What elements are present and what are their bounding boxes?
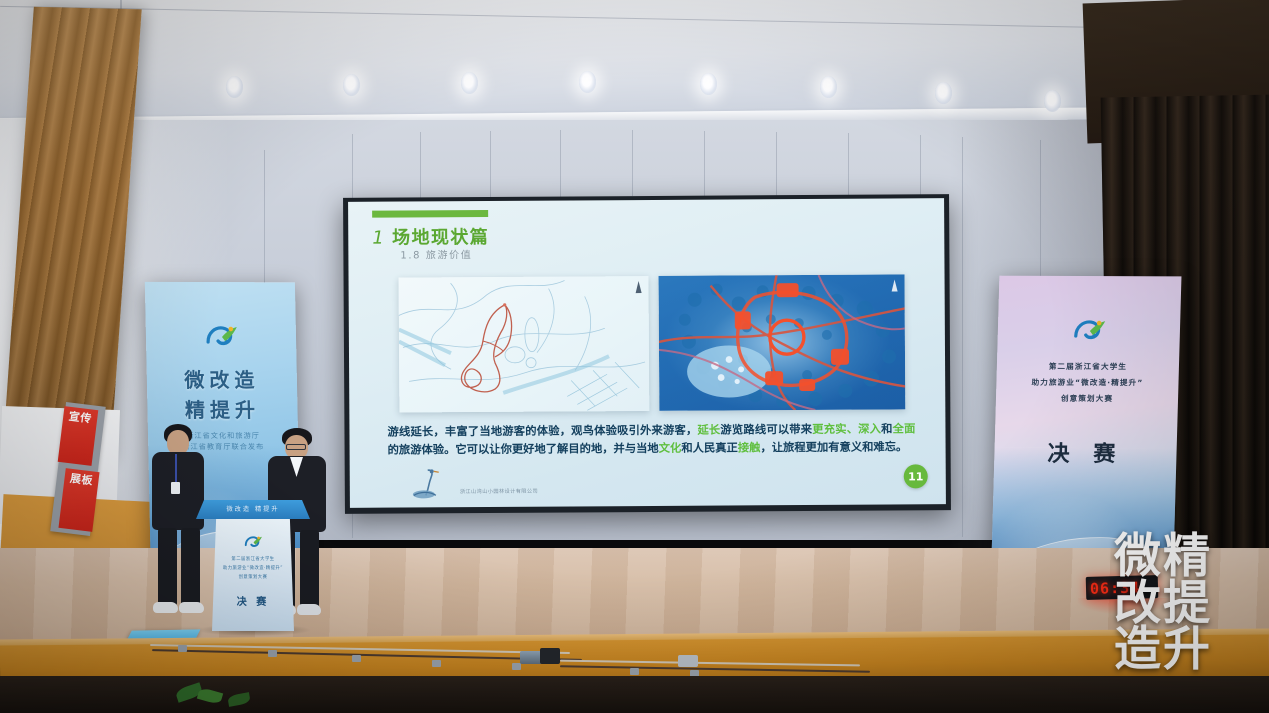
projected-slide: 1场地现状篇 1.8 旅游价值 bbox=[348, 198, 946, 508]
presenter-shoe bbox=[153, 602, 178, 613]
body-seg-1: 游线延长，丰富了当地游客的体验，观鸟体验吸引外来游客， bbox=[387, 424, 697, 439]
body-seg-2: 游览路线可以带来 bbox=[720, 423, 812, 437]
watermark-char: 造 bbox=[1114, 627, 1161, 674]
banner-right-line2: 助力旅游业“微改造·精提升” bbox=[996, 378, 1178, 389]
wall-panel-seam bbox=[490, 131, 491, 199]
slide-footer-credit: 浙江山湾山小园林设计有限公司 bbox=[460, 488, 538, 495]
banner-left-line2: 精提升 bbox=[147, 394, 298, 423]
slide-section-number: 1 bbox=[372, 228, 385, 249]
stage-floor-box bbox=[678, 655, 698, 667]
broadcast-watermark: 微 改 造 精 提 升 bbox=[1114, 534, 1264, 706]
presenter-lanyard bbox=[175, 454, 177, 484]
north-arrow-icon bbox=[892, 279, 898, 291]
slide-page-number: 11 bbox=[904, 464, 928, 488]
stage-floor-box bbox=[520, 651, 542, 664]
podium-line1: 第二届浙江省大学生 bbox=[212, 557, 294, 564]
cable-clip bbox=[268, 650, 277, 657]
slide-image-aerial-village-route bbox=[659, 274, 906, 411]
presenter-leg bbox=[300, 530, 319, 608]
wall-panel-seam bbox=[632, 130, 633, 196]
podium-top-text: 微改造 精提升 bbox=[196, 504, 310, 513]
body-highlight-4: 文化 bbox=[659, 442, 682, 455]
ceiling-downlight bbox=[461, 72, 478, 94]
banner-right-line1: 第二届浙江省大学生 bbox=[997, 362, 1179, 373]
body-seg-5: 和人民真正 bbox=[681, 442, 738, 455]
watermark-char: 精 bbox=[1163, 534, 1210, 581]
watermark-char: 改 bbox=[1114, 581, 1161, 628]
contest-logo-icon bbox=[1071, 318, 1106, 348]
watermark-column-2: 精 提 升 bbox=[1163, 534, 1210, 706]
presenter-leg bbox=[158, 528, 177, 606]
slide-accent-bar bbox=[372, 210, 488, 218]
conference-hall-scene: 宣传 展板 1场地现状篇 1.8 旅游价值 bbox=[0, 0, 1269, 713]
presenter-left bbox=[146, 424, 212, 630]
presenter-shoe bbox=[297, 604, 321, 615]
presenter-leg bbox=[181, 528, 200, 606]
crane-bird-illustration bbox=[408, 467, 454, 501]
watermark-column-1: 微 改 造 bbox=[1114, 534, 1161, 706]
wall-panel-seam bbox=[704, 131, 705, 197]
ceiling-downlight bbox=[226, 76, 243, 98]
stage-floor-box bbox=[540, 648, 560, 664]
ceiling-downlight bbox=[579, 71, 596, 93]
watermark-char: 升 bbox=[1163, 627, 1210, 674]
north-arrow-icon bbox=[636, 281, 642, 293]
wall-panel-seam bbox=[920, 135, 921, 201]
body-highlight-1: 延长 bbox=[697, 424, 720, 437]
ceiling-downlight bbox=[935, 82, 952, 104]
contest-logo-icon bbox=[244, 535, 263, 552]
projection-screen-frame: 1场地现状篇 1.8 旅游价值 bbox=[343, 194, 951, 514]
podium-body: 第二届浙江省大学生 助力旅游业“微改造·精提升” 创意策划大赛 决 赛 bbox=[212, 519, 294, 631]
presenter-shoe bbox=[179, 602, 204, 613]
banner-right-line3: 创意策划大赛 bbox=[996, 394, 1178, 405]
wall-panel-seam bbox=[776, 132, 777, 198]
slide-subtitle: 1.8 旅游价值 bbox=[400, 246, 472, 261]
cable-clip bbox=[630, 668, 639, 675]
presenter-badge bbox=[171, 482, 180, 494]
wall-panel-seam bbox=[560, 130, 561, 197]
wall-panel-seam bbox=[420, 132, 421, 202]
presenter-glasses bbox=[286, 444, 306, 450]
cable-clip bbox=[512, 663, 521, 670]
cable-clip bbox=[432, 660, 441, 667]
ceiling-downlight bbox=[700, 73, 717, 95]
podium-line2: 助力旅游业“微改造·精提升” bbox=[212, 566, 294, 573]
wall-poster: 宣传 bbox=[58, 406, 99, 466]
body-highlight-2: 更充实、深入 bbox=[812, 423, 881, 436]
body-highlight-3: 全面 bbox=[893, 422, 916, 435]
banner-left-line1: 微改造 bbox=[147, 364, 298, 393]
body-highlight-5: 接触 bbox=[738, 442, 761, 455]
cable-clip bbox=[352, 655, 361, 662]
site-plan-vectors bbox=[399, 276, 650, 413]
podium-line3: 创意策划大赛 bbox=[212, 575, 294, 582]
contest-logo-icon bbox=[204, 324, 239, 354]
ceiling-downlight bbox=[343, 74, 360, 96]
watermark-char: 微 bbox=[1114, 534, 1161, 581]
body-seg-3: 和 bbox=[881, 423, 893, 436]
podium-final-label: 决 赛 bbox=[212, 593, 294, 608]
slide-body-text: 游线延长，丰富了当地游客的体验，观鸟体验吸引外来游客，延长游览路线可以带来更充实… bbox=[387, 420, 915, 460]
slide-image-site-route-plan bbox=[399, 276, 650, 413]
cable-clip bbox=[178, 645, 187, 652]
body-seg-6: ，让旅程更加有意义和难忘。 bbox=[760, 441, 907, 455]
ceiling-downlight bbox=[1044, 90, 1061, 112]
wall-panel-seam bbox=[848, 133, 849, 199]
ceiling-downlight bbox=[820, 76, 837, 98]
wall-poster-label: 宣传 bbox=[68, 410, 92, 426]
aerial-overlay-vectors bbox=[659, 274, 906, 411]
wall-poster-label: 展板 bbox=[69, 472, 93, 488]
podium-top-panel: 微改造 精提升 bbox=[196, 500, 310, 519]
banner-right-final-label: 决 赛 bbox=[994, 436, 1177, 469]
watermark-char: 提 bbox=[1163, 581, 1210, 628]
body-seg-4: 的旅游体验。它可以让你更好地了解目的地，并与当地 bbox=[388, 442, 659, 457]
wall-poster: 展板 bbox=[58, 468, 99, 532]
